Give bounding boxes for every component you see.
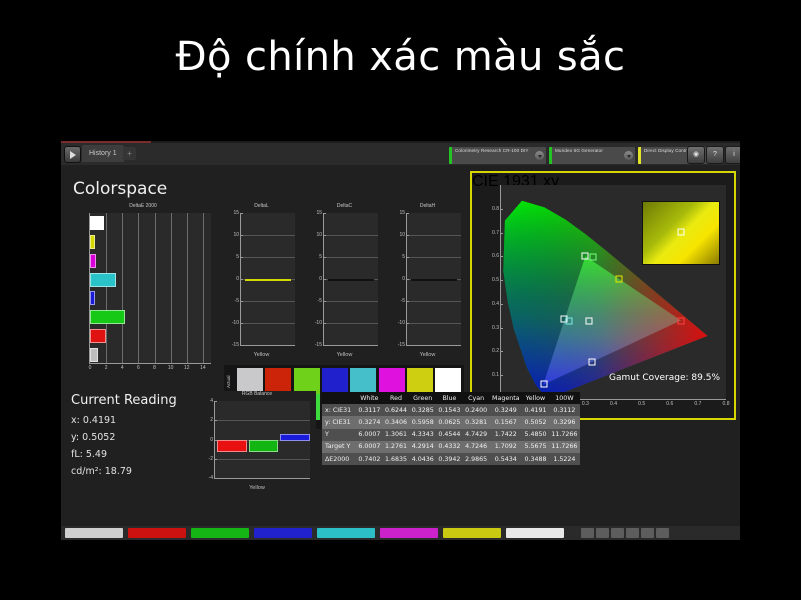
cie-point-cyan-measured [565, 318, 572, 325]
y-axis-tick: 10 [233, 232, 241, 238]
current-reading-title: Current Reading [71, 393, 201, 408]
app-body: Colorspace DeltaE 2000 02468101214 Delta… [61, 165, 740, 540]
deltac-x-label: Yellow [307, 352, 382, 358]
gridline [241, 257, 295, 258]
table-cell: 1.7092 [489, 441, 522, 453]
strip-tool-button[interactable] [626, 528, 639, 538]
100w-button[interactable] [506, 528, 564, 538]
cie-point-green-measured [590, 254, 597, 261]
gridline [324, 235, 378, 236]
rgb-balance-plot-area: 420-2-4 [214, 401, 310, 479]
y-axis-tick: 0 [236, 276, 241, 282]
table-cell: 0.1543 [436, 404, 463, 416]
chevron-down-icon[interactable] [624, 151, 633, 160]
table-cell: 0.7402 [356, 453, 383, 465]
deltae-bar [90, 291, 95, 305]
table-row-label: y: CIE31 [322, 416, 356, 428]
gridline [324, 301, 378, 302]
strip-tool-button[interactable] [581, 528, 594, 538]
deltal-plot-area: 151050-5-10-15 [240, 213, 295, 346]
section-heading-colorspace: Colorspace [73, 179, 167, 199]
table-cell: 0.3296 [549, 416, 580, 428]
table-body: x: CIE310.31170.62440.32850.15430.24000.… [322, 404, 580, 465]
deltah-chart: DeltaH 151050-5-10-15 Yellow [390, 203, 465, 358]
table-cell: 0.3281 [463, 416, 490, 428]
table-cell: 0.3112 [549, 404, 580, 416]
bottom-pattern-strip [61, 526, 740, 540]
cie-point-green-target [582, 253, 589, 260]
deltal-x-label: Yellow [224, 352, 299, 358]
gridline [138, 213, 139, 363]
deltae2000-chart: DeltaE 2000 02468101214 [69, 203, 217, 378]
deltae-bar [90, 273, 116, 287]
deltac-chart: DeltaC 151050-5-10-15 Yellow [307, 203, 382, 358]
rgb-balance-bar [280, 434, 310, 441]
delta-series-line [411, 279, 456, 281]
deltah-chart-title: DeltaH [390, 203, 465, 209]
gridline [203, 213, 204, 363]
swatch-actual [407, 368, 433, 394]
generator-status-led [549, 147, 552, 164]
current-reading-y: y: 0.5052 [71, 429, 201, 446]
x-axis-tick: 12 [184, 363, 190, 371]
delta-series-line [328, 279, 373, 281]
table-cell: 0.3117 [356, 404, 383, 416]
x-axis-tick: 8 [153, 363, 156, 371]
deltae-bar [90, 310, 125, 324]
cie-point-magenta-measured [589, 358, 596, 365]
rgb-balance-bar [249, 440, 279, 453]
table-cell: 1.5224 [549, 453, 580, 465]
cie-point-red-target [678, 317, 685, 324]
page-title: Độ chính xác màu sắc [0, 34, 801, 80]
cie-plot-area: Gamut Coverage: 89.5% 00.10.20.30.40.50.… [500, 185, 726, 400]
strip-tool-button[interactable] [596, 528, 609, 538]
table-row-label: x: CIE31 [322, 404, 356, 416]
table-column-header: Red [383, 392, 410, 404]
y-axis-tick: -15 [398, 342, 407, 348]
table-cell: 0.3249 [489, 404, 522, 416]
y-axis-tick: 10 [399, 232, 407, 238]
table-column-header: Cyan [463, 392, 490, 404]
table-column-header: 100W [549, 392, 580, 404]
app-toolbar: History 1 + Colorimetry Research CR-100 … [61, 143, 740, 165]
magenta-button[interactable] [380, 528, 438, 538]
strip-tool-button[interactable] [656, 528, 669, 538]
y-axis-tick: -4 [209, 475, 215, 481]
cie-y-tick: 0.1 [492, 372, 501, 378]
gridline [155, 213, 156, 363]
table-cell: 5.5675 [522, 441, 549, 453]
y-axis-tick: -10 [232, 320, 241, 326]
table-column-header [322, 392, 356, 404]
table-cell: 1.6835 [383, 453, 410, 465]
cie-1931-chart: CIE 1931 xy Gamut Coverage: 89.5% 00.10.… [470, 171, 736, 420]
gridline [324, 257, 378, 258]
table-column-header: Magenta [489, 392, 522, 404]
y-axis-tick: 10 [316, 232, 324, 238]
table-cell: 0.4544 [436, 429, 463, 441]
info-icon[interactable]: i [725, 146, 740, 164]
y-axis-tick: 4 [210, 398, 215, 404]
gridline [241, 323, 295, 324]
x-axis-tick: 10 [168, 363, 174, 371]
gridline [407, 323, 461, 324]
deltae2000-plot-area: 02468101214 [89, 213, 211, 364]
table-cell: 6.0007 [356, 429, 383, 441]
y-axis-tick: 5 [236, 254, 241, 260]
rgb-balance-bar [217, 440, 247, 453]
y-axis-tick: 15 [399, 210, 407, 216]
meter-dropdown[interactable]: Colorimetry Research CR-100 DIY [448, 146, 547, 165]
cie-y-tick: 0.4 [492, 301, 501, 307]
gridline [122, 213, 123, 363]
cie-y-tick: 0.2 [492, 348, 501, 354]
y-axis-tick: 15 [316, 210, 324, 216]
table-cell: 6.0007 [356, 441, 383, 453]
cie-zoom-inset [642, 201, 720, 265]
table-cell: 4.7246 [463, 441, 490, 453]
white-button[interactable] [65, 528, 123, 538]
gridline [106, 213, 107, 363]
table-cell: 4.2914 [409, 441, 436, 453]
inset-measured-marker [678, 228, 685, 235]
table-cell: 0.3488 [522, 453, 549, 465]
rgb-balance-x-label: Yellow [198, 485, 316, 491]
y-axis-tick: -10 [398, 320, 407, 326]
y-axis-tick: 0 [319, 276, 324, 282]
calibration-app-window: History 1 + Colorimetry Research CR-100 … [61, 141, 740, 540]
deltae-bar [90, 348, 98, 362]
table-row: ΔE20000.74021.68354.04360.39422.98650.54… [322, 453, 580, 465]
table-cell: 0.6244 [383, 404, 410, 416]
x-axis-tick: 4 [121, 363, 124, 371]
table-cell: 0.4332 [436, 441, 463, 453]
display-control-status-led [638, 147, 641, 164]
current-reading-fl: fL: 5.49 [71, 446, 201, 463]
cie-y-tick: 0.8 [492, 206, 501, 212]
x-axis-tick: 2 [105, 363, 108, 371]
red-button[interactable] [128, 528, 186, 538]
current-reading-cdm2: cd/m²: 18.79 [71, 463, 201, 480]
current-reading-panel: Current Reading x: 0.4191 y: 0.5052 fL: … [71, 393, 201, 480]
y-axis-tick: 0 [210, 437, 215, 443]
gridline [407, 257, 461, 258]
table-cell: 0.5958 [409, 416, 436, 428]
table-cell: 4.3343 [409, 429, 436, 441]
gridline [187, 213, 188, 363]
rgb-balance-chart: RGB Balance 420-2-4 Yellow [198, 391, 316, 491]
table-cell: 4.7429 [463, 429, 490, 441]
deltac-chart-title: DeltaC [307, 203, 382, 209]
cie-point-blue-measured [541, 381, 548, 388]
meter-dropdown-label: Colorimetry Research CR-100 DIY [455, 148, 532, 155]
cyan-button[interactable] [317, 528, 375, 538]
table-cell: 1.7422 [489, 429, 522, 441]
table-cell: 1.2761 [383, 441, 410, 453]
y-axis-tick: 2 [210, 417, 215, 423]
table-row: Target Y6.00071.27614.29140.43324.72461.… [322, 441, 580, 453]
cie-y-tick: 0.6 [492, 253, 501, 259]
table-row-label: Y [322, 429, 356, 441]
cie-point-yellow-measured [615, 275, 622, 282]
strip-tool-button[interactable] [611, 528, 624, 538]
table-cell: 0.2400 [463, 404, 490, 416]
gamut-coverage-label: Gamut Coverage: 89.5% [609, 373, 720, 383]
swatch-actual [350, 368, 376, 394]
deltae-bar [90, 329, 106, 343]
slide: Độ chính xác màu sắc History 1 + Colorim… [0, 0, 801, 600]
deltae-bar [90, 254, 96, 268]
deltah-x-label: Yellow [390, 352, 465, 358]
add-tab-button[interactable]: + [123, 147, 136, 160]
camera-icon[interactable]: ◉ [687, 146, 705, 164]
deltac-plot-area: 151050-5-10-15 [323, 213, 378, 346]
cie-x-tick: 0.4 [610, 399, 617, 407]
gridline [324, 323, 378, 324]
y-axis-tick: 5 [319, 254, 324, 260]
table-cell: 0.3285 [409, 404, 436, 416]
deltal-chart-title: DeltaL [224, 203, 299, 209]
cie-x-tick: 0.5 [638, 399, 645, 407]
y-axis-tick: -10 [315, 320, 324, 326]
table-cell: 0.1567 [489, 416, 522, 428]
deltal-chart: DeltaL 151050-5-10-15 Yellow [224, 203, 299, 358]
y-axis-tick: -5 [318, 298, 324, 304]
y-axis-tick: -5 [401, 298, 407, 304]
blue-button[interactable] [254, 528, 312, 538]
table-column-header: White [356, 392, 383, 404]
table-cell: 0.4191 [522, 404, 549, 416]
y-axis-tick: -15 [315, 342, 324, 348]
table-cell: 0.3942 [436, 453, 463, 465]
gridline [215, 420, 310, 421]
table-cell: 1.3061 [383, 429, 410, 441]
rgb-balance-chart-title: RGB Balance [198, 391, 316, 397]
table-cell: 0.5434 [489, 453, 522, 465]
table-column-header: Yellow [522, 392, 549, 404]
table-cell: 0.5052 [522, 416, 549, 428]
table-row-label: ΔE2000 [322, 453, 356, 465]
help-icon[interactable]: ? [706, 146, 724, 164]
table-cell: 5.4850 [522, 429, 549, 441]
generator-dropdown-label: Murideo 6G Generator [555, 148, 621, 155]
cie-y-tick: 0.3 [492, 325, 501, 331]
table-cell: 0.3274 [356, 416, 383, 428]
gridline [241, 235, 295, 236]
y-axis-tick: -15 [232, 342, 241, 348]
cie-x-tick: 0.8 [723, 399, 730, 407]
swatch-actual [379, 368, 405, 394]
gridline [215, 459, 310, 460]
current-reading-x: x: 0.4191 [71, 412, 201, 429]
strip-tool-button[interactable] [641, 528, 654, 538]
cie-y-tick: 0.7 [492, 230, 501, 236]
cie-point-white-point [585, 317, 592, 324]
table-cell: 11.7266 [549, 429, 580, 441]
cie-x-tick: 0.3 [582, 399, 589, 407]
table-row: Y6.00071.30614.33430.45444.74291.74225.4… [322, 429, 580, 441]
measurements-table: WhiteRedGreenBlueCyanMagentaYellow100W x… [322, 392, 580, 465]
y-axis-tick: -2 [209, 456, 215, 462]
swatch-actual [435, 368, 461, 394]
y-axis-tick: 15 [233, 210, 241, 216]
table-cell: 0.0625 [436, 416, 463, 428]
table-row: x: CIE310.31170.62440.32850.15430.24000.… [322, 404, 580, 416]
measurements-table-element: WhiteRedGreenBlueCyanMagentaYellow100W x… [322, 392, 580, 465]
generator-dropdown[interactable]: Murideo 6G Generator [548, 146, 636, 165]
table-row: y: CIE310.32740.34060.59580.06250.32810.… [322, 416, 580, 428]
gridline [171, 213, 172, 363]
meter-status-led [449, 147, 452, 164]
table-cell: 4.0436 [409, 453, 436, 465]
x-axis-tick: 0 [89, 363, 92, 371]
delta-series-line [245, 279, 290, 281]
play-icon[interactable] [64, 146, 81, 163]
table-column-header: Green [409, 392, 436, 404]
y-axis-tick: 0 [402, 276, 407, 282]
x-axis-tick: 14 [200, 363, 206, 371]
deltae2000-chart-title: DeltaE 2000 [69, 203, 217, 209]
x-axis-tick: 6 [137, 363, 140, 371]
green-button[interactable] [191, 528, 249, 538]
deltae-bar [90, 216, 104, 230]
gridline [407, 301, 461, 302]
gridline [407, 235, 461, 236]
table-column-header: Blue [436, 392, 463, 404]
y-axis-tick: -5 [235, 298, 241, 304]
table-cell: 0.3406 [383, 416, 410, 428]
swatch-actual [322, 368, 348, 394]
cie-x-tick: 0.7 [694, 399, 701, 407]
y-axis-tick: 5 [402, 254, 407, 260]
deltae-bar [90, 235, 95, 249]
table-cell: 2.9865 [463, 453, 490, 465]
deltah-plot-area: 151050-5-10-15 [406, 213, 461, 346]
yellow-button[interactable] [443, 528, 501, 538]
cie-x-tick: 0.6 [666, 399, 673, 407]
table-header-row: WhiteRedGreenBlueCyanMagentaYellow100W [322, 392, 580, 404]
table-row-label: Target Y [322, 441, 356, 453]
chevron-down-icon[interactable] [535, 151, 544, 160]
cie-y-tick: 0.5 [492, 277, 501, 283]
tab-history-1[interactable]: History 1 [82, 145, 124, 162]
table-cell: 11.7266 [549, 441, 580, 453]
gridline [241, 301, 295, 302]
